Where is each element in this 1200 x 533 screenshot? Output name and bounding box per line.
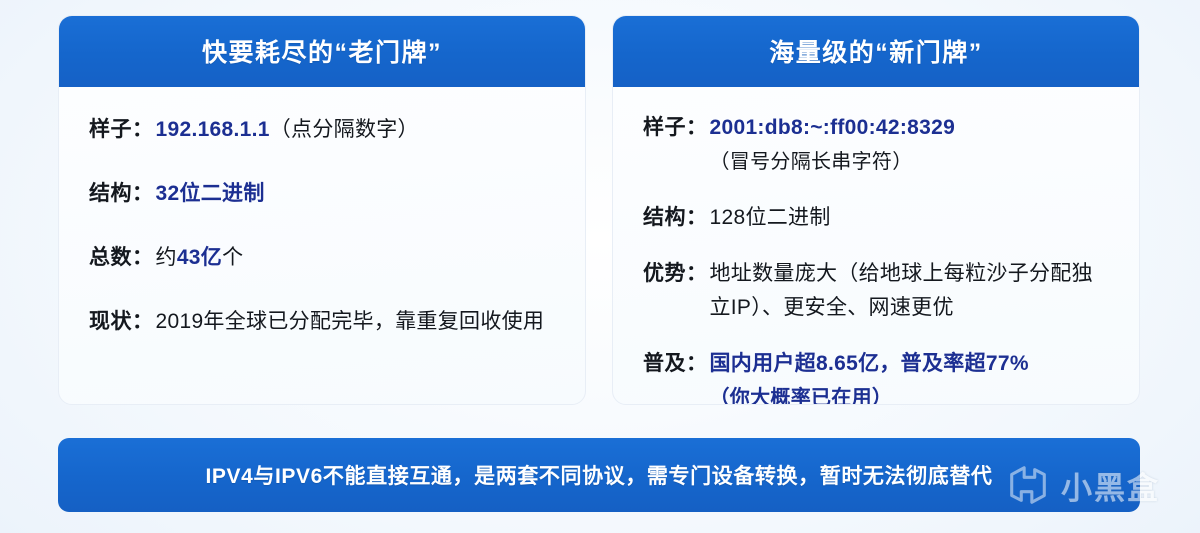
card-ipv6-body: 样子： 2001:db8:~:ff00:42:8329 （冒号分隔长串字符） 结…: [613, 87, 1139, 405]
ipv6-sample-address: 2001:db8:~:ff00:42:8329: [710, 116, 956, 139]
row-value-advantage: 地址数量庞大（给地球上每粒沙子分配独立IP）、更安全、网速更优: [708, 257, 1110, 325]
ipv4-total-amount: 43亿: [177, 246, 222, 269]
ipv4-status-text: 2019年全球已分配完毕，靠重复回收使用: [156, 310, 545, 333]
ipv6-advantage-text: 地址数量庞大（给地球上每粒沙子分配独立IP）、更安全、网速更优: [710, 262, 1093, 319]
row-value-sample: 192.168.1.1（点分隔数字）: [154, 113, 556, 147]
ipv6-adoption-note: （你大概率已在用）: [710, 381, 1110, 405]
card-ipv6: 海量级的“新门牌” 样子： 2001:db8:~:ff00:42:8329 （冒…: [612, 15, 1140, 405]
ipv4-sample-address: 192.168.1.1: [156, 118, 270, 141]
row-value-structure: 128位二进制: [708, 201, 1110, 235]
card-ipv4-title: 快要耗尽的“老门牌”: [202, 33, 442, 69]
row-ipv6-structure: 结构： 128位二进制: [643, 201, 1109, 235]
ipv6-adoption-stat: 国内用户超8.65亿，普及率超77%: [710, 352, 1029, 375]
row-label-sample: 样子：: [89, 113, 154, 147]
row-label-structure: 结构：: [89, 177, 154, 211]
slide-canvas: 快要耗尽的“老门牌” 样子： 192.168.1.1（点分隔数字） 结构： 32…: [0, 0, 1200, 533]
card-ipv4-header: 快要耗尽的“老门牌”: [58, 15, 586, 87]
row-ipv4-sample: 样子： 192.168.1.1（点分隔数字）: [89, 113, 555, 147]
row-label-total: 总数：: [89, 241, 154, 275]
row-value-sample: 2001:db8:~:ff00:42:8329 （冒号分隔长串字符）: [708, 111, 1110, 179]
row-label-status: 现状：: [89, 305, 154, 339]
row-label-sample: 样子：: [643, 111, 708, 145]
row-label-adoption: 普及：: [643, 347, 708, 381]
ipv4-structure-value: 32位二进制: [156, 182, 265, 205]
row-ipv6-sample: 样子： 2001:db8:~:ff00:42:8329 （冒号分隔长串字符）: [643, 111, 1109, 179]
row-ipv4-total: 总数： 约43亿个: [89, 241, 555, 275]
ipv6-sample-note: （冒号分隔长串字符）: [710, 145, 1110, 179]
row-value-status: 2019年全球已分配完毕，靠重复回收使用: [154, 305, 556, 339]
ipv4-total-suffix: 个: [222, 246, 243, 269]
ipv4-total-prefix: 约: [156, 246, 177, 269]
row-ipv4-structure: 结构： 32位二进制: [89, 177, 555, 211]
card-ipv4: 快要耗尽的“老门牌” 样子： 192.168.1.1（点分隔数字） 结构： 32…: [58, 15, 586, 405]
bottom-note-banner: IPV4与IPV6不能直接互通，是两套不同协议，需专门设备转换，暂时无法彻底替代: [58, 438, 1140, 512]
card-ipv6-header: 海量级的“新门牌”: [612, 15, 1140, 87]
card-ipv6-title: 海量级的“新门牌”: [769, 33, 983, 69]
row-ipv6-adoption: 普及： 国内用户超8.65亿，普及率超77% （你大概率已在用）: [643, 347, 1109, 405]
row-value-structure: 32位二进制: [154, 177, 556, 211]
bottom-note-text: IPV4与IPV6不能直接互通，是两套不同协议，需专门设备转换，暂时无法彻底替代: [179, 460, 1018, 490]
ipv4-sample-note: （点分隔数字）: [270, 118, 419, 141]
row-label-advantage: 优势：: [643, 257, 708, 291]
row-ipv6-advantage: 优势： 地址数量庞大（给地球上每粒沙子分配独立IP）、更安全、网速更优: [643, 257, 1109, 325]
ipv6-structure-value: 128位二进制: [710, 206, 831, 229]
row-value-total: 约43亿个: [154, 241, 556, 275]
row-value-adoption: 国内用户超8.65亿，普及率超77% （你大概率已在用）: [708, 347, 1110, 405]
row-ipv4-status: 现状： 2019年全球已分配完毕，靠重复回收使用: [89, 305, 555, 339]
row-label-structure: 结构：: [643, 201, 708, 235]
card-ipv4-body: 样子： 192.168.1.1（点分隔数字） 结构： 32位二进制 总数： 约4…: [59, 87, 585, 379]
